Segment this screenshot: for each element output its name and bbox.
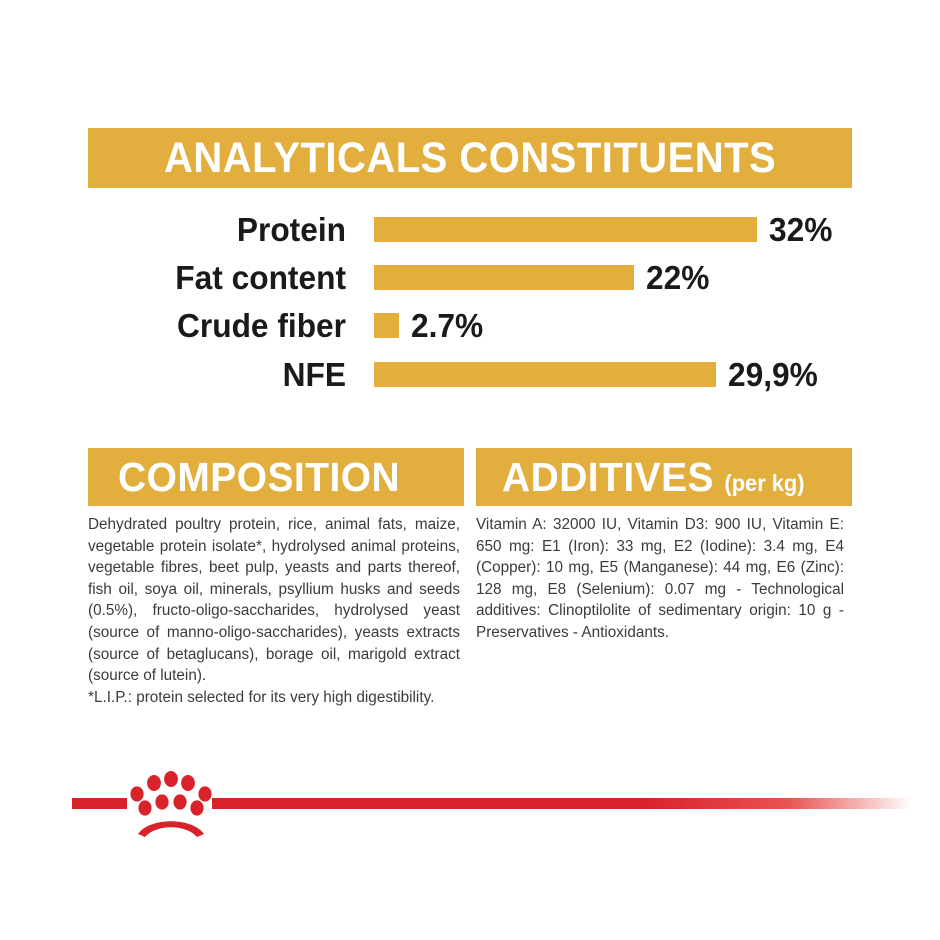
footer-rule-left [72, 798, 127, 809]
composition-footnote: *L.I.P.: protein selected for its very h… [88, 687, 460, 709]
bar-label-nfe: NFE [98, 358, 346, 391]
analyticals-constituents-banner: ANALYTICALS CONSTITUENTS [88, 128, 852, 188]
composition-text-block: Dehydrated poultry protein, rice, animal… [88, 514, 460, 708]
additives-banner-title: ADDITIVES [502, 457, 714, 498]
bar-fill-protein [374, 217, 757, 242]
bar-value-crude-fiber: 2.7% [411, 309, 483, 342]
composition-banner: COMPOSITION [88, 448, 464, 506]
bar-value-protein: 32% [769, 213, 832, 246]
bar-value-fat-content: 22% [646, 261, 709, 294]
additives-paragraph: Vitamin A: 32000 IU, Vitamin D3: 900 IU,… [476, 514, 844, 644]
bar-track: 29,9% [374, 351, 878, 397]
bar-fill-crude-fiber [374, 313, 399, 338]
bar-value-nfe: 29,9% [728, 358, 818, 391]
brand-footer [0, 756, 940, 866]
bar-track: 32% [374, 206, 878, 252]
chart-row: Crude fiber 2.7% [88, 302, 878, 348]
bar-fill-nfe [374, 362, 716, 387]
nutrition-panel: ANALYTICALS CONSTITUENTS Protein 32% Fat… [0, 0, 940, 940]
analyticals-banner-title: ANALYTICALS CONSTITUENTS [164, 137, 776, 180]
composition-banner-title: COMPOSITION [118, 457, 400, 498]
additives-text-block: Vitamin A: 32000 IU, Vitamin D3: 900 IU,… [476, 514, 844, 644]
composition-paragraph: Dehydrated poultry protein, rice, animal… [88, 514, 460, 687]
bar-fill-fat-content [374, 265, 634, 290]
bar-track: 2.7% [374, 302, 878, 348]
chart-row: Protein 32% [88, 206, 878, 252]
bar-label-protein: Protein [98, 213, 346, 246]
chart-row: NFE 29,9% [88, 351, 878, 397]
royal-canin-paw-logo-icon [128, 768, 214, 840]
additives-banner-row: ADDITIVES (per kg) [502, 457, 805, 498]
bar-label-fat-content: Fat content [98, 261, 346, 294]
bar-track: 22% [374, 254, 878, 300]
bar-label-crude-fiber: Crude fiber [98, 309, 346, 342]
analyticals-bar-chart: Protein 32% Fat content 22% Crude fiber … [88, 206, 878, 406]
footer-rule-right [212, 798, 912, 809]
additives-banner: ADDITIVES (per kg) [476, 448, 852, 506]
additives-banner-subtitle: (per kg) [724, 472, 804, 495]
chart-row: Fat content 22% [88, 254, 878, 300]
